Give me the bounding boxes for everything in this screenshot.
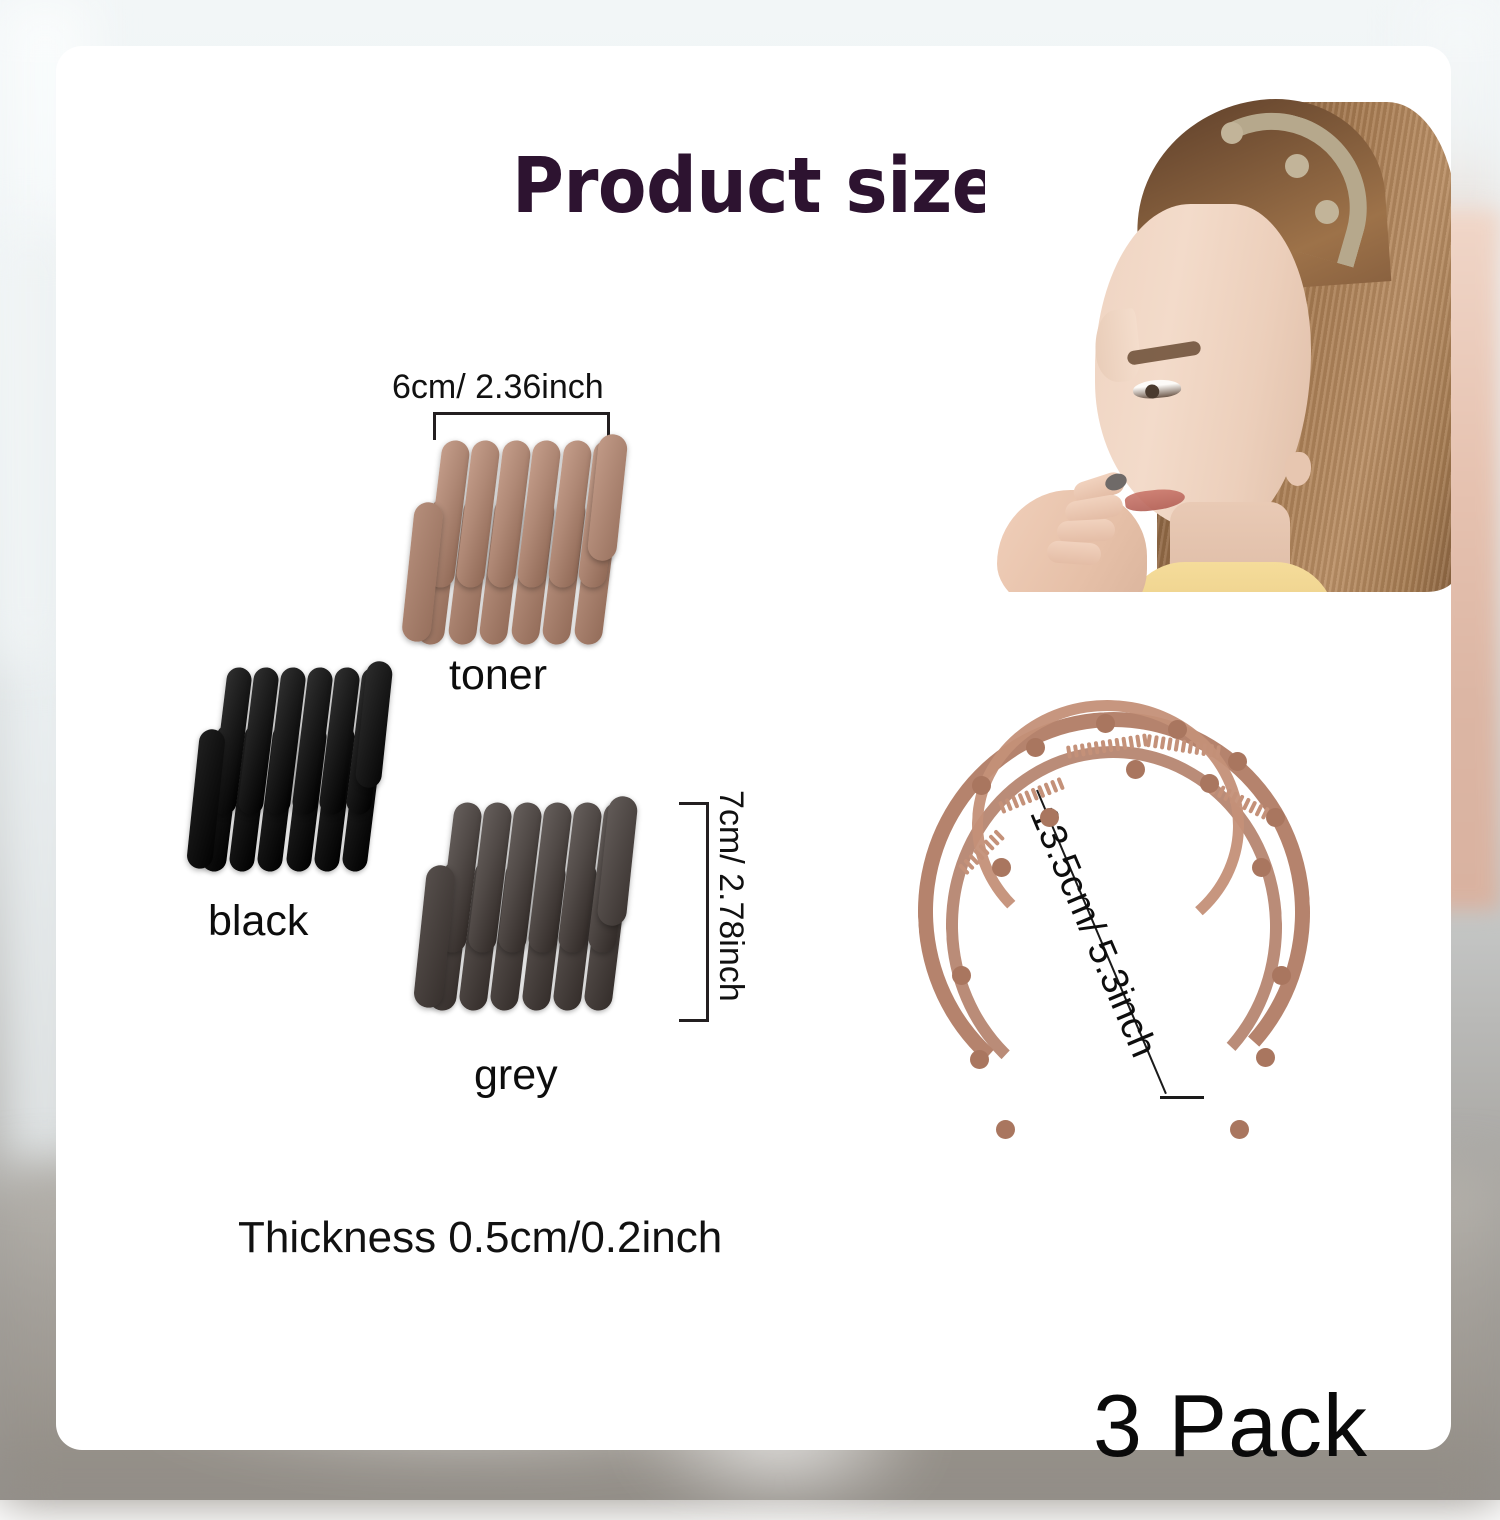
height-dimension-bracket xyxy=(679,802,709,1022)
variant-label-grey: grey xyxy=(474,1051,558,1100)
variant-label-black: black xyxy=(208,897,308,946)
worn-headband-knob xyxy=(1315,200,1339,224)
headband-hinge-knob xyxy=(1126,760,1145,779)
variant-label-toner: toner xyxy=(449,651,547,700)
headband-hinge-knob xyxy=(972,776,991,795)
product-swatch-toner xyxy=(418,438,618,650)
headband-illustration xyxy=(900,690,1330,1170)
pack-count-badge: 3 Pack xyxy=(1093,1375,1368,1477)
headband-hinge-knob xyxy=(1230,1120,1249,1139)
height-dimension-label: 7cm/ 2.78inch xyxy=(711,790,750,1002)
headband-hinge-knob xyxy=(1168,720,1187,739)
headband-hinge-knob xyxy=(1228,752,1247,771)
headband-hinge-knob xyxy=(1256,1048,1275,1067)
headband-hinge-knob xyxy=(1266,808,1285,827)
product-swatch-grey xyxy=(430,800,628,1016)
headband-hinge-knob xyxy=(1026,738,1045,757)
headband-hinge-knob xyxy=(1200,774,1219,793)
width-dimension-bracket xyxy=(433,412,610,440)
model-finger xyxy=(1056,518,1115,543)
headband-hinge-knob xyxy=(992,858,1011,877)
headband-hinge-knob xyxy=(1272,966,1291,985)
thickness-label: Thickness 0.5cm/0.2inch xyxy=(238,1213,722,1263)
model-photo xyxy=(985,92,1451,592)
headband-hinge-knob xyxy=(996,1120,1015,1139)
page-title: Product size xyxy=(512,142,999,231)
headband-hinge-knob xyxy=(970,1050,989,1069)
headband-hinge-knob xyxy=(1040,808,1059,827)
worn-headband-knob xyxy=(1285,154,1309,178)
headband-hinge-knob xyxy=(1096,714,1115,733)
width-dimension-label: 6cm/ 2.36inch xyxy=(392,368,604,407)
worn-headband-knob xyxy=(1221,122,1243,144)
headband-hinge-knob xyxy=(1252,858,1271,877)
model-finger xyxy=(1046,540,1101,566)
product-swatch-black xyxy=(203,665,383,877)
headband-hinge-knob xyxy=(952,966,971,985)
